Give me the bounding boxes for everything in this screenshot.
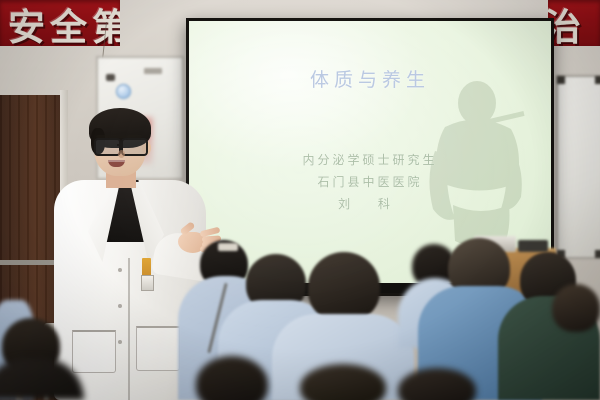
attendee-head (308, 252, 380, 322)
glasses-lens-left (94, 138, 121, 156)
glasses-lens-right (121, 138, 148, 156)
coat-pocket-right (136, 326, 180, 371)
red-banner-right: 治 (548, 0, 600, 46)
coat-pocket-left (72, 330, 116, 373)
whiteboard-corner (595, 76, 600, 84)
slide-title: 体质与养生 (189, 65, 551, 92)
podium-device-dark (518, 240, 548, 252)
wall-camera-icon (106, 74, 115, 81)
lecture-photo: 安全第 治 (0, 0, 600, 400)
coat-button (118, 268, 122, 272)
coat-button (118, 340, 122, 344)
slide-line-1: 内分泌学硕士研究生 (189, 149, 551, 171)
red-banner-left: 安全第 (0, 0, 120, 46)
coat-seam (128, 258, 130, 400)
name-badge (142, 258, 151, 284)
coat-button (118, 304, 122, 308)
blue-sticker-icon (116, 84, 131, 99)
slide-line-2: 石门县中医医院 (189, 171, 551, 193)
whiteboard-clip (144, 68, 162, 74)
attendee-head (552, 284, 600, 332)
slide-subtitle-block: 内分泌学硕士研究生 石门县中医医院 刘 科 (189, 149, 551, 215)
glasses-bridge (117, 144, 123, 146)
whiteboard-right (556, 75, 600, 259)
slide-line-3: 刘 科 (189, 193, 551, 215)
whiteboard-corner (595, 250, 600, 258)
door-rail (0, 260, 60, 265)
presenter-nose (118, 150, 125, 158)
hair-clip-icon (218, 243, 238, 251)
whiteboard-corner (557, 76, 565, 84)
